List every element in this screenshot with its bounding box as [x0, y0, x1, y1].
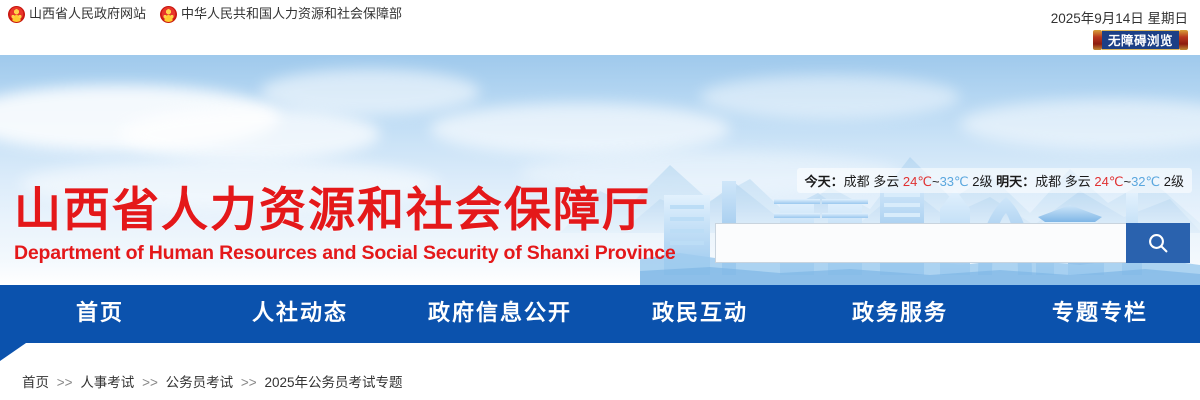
cloud-icon	[120, 107, 380, 161]
weather-today-high: 33℃	[940, 174, 969, 189]
top-bar-links: 山西省人民政府网站 中华人民共和国人力资源和社会保障部	[8, 5, 402, 23]
top-link-mohrss[interactable]: 中华人民共和国人力资源和社会保障部	[160, 5, 402, 23]
weather-tomorrow-wind: 2级	[1164, 174, 1184, 189]
weather-tomorrow-condition: 多云	[1065, 174, 1091, 189]
weather-tomorrow-high: 32℃	[1131, 174, 1160, 189]
scroll-right-icon	[1179, 30, 1188, 50]
page-title-cn: 山西省人力资源和社会保障厅	[14, 183, 654, 239]
top-link-label: 山西省人民政府网站	[29, 5, 146, 23]
nav-item-services[interactable]: 政务服务	[800, 285, 1000, 343]
site-search	[715, 223, 1190, 263]
accessibility-badge-label: 无障碍浏览	[1102, 30, 1179, 50]
breadcrumb-bar: 首页 >> 人事考试 >> 公务员考试 >> 2025年公务员考试专题	[0, 343, 1200, 400]
breadcrumb: 首页 >> 人事考试 >> 公务员考试 >> 2025年公务员考试专题	[22, 371, 402, 391]
nav-item-interaction[interactable]: 政民互动	[600, 285, 800, 343]
site-banner: 山西省人力资源和社会保障厅 Department of Human Resour…	[0, 55, 1200, 285]
nav-item-news[interactable]: 人社动态	[200, 285, 400, 343]
search-input[interactable]	[715, 223, 1126, 263]
weather-today-city: 成都	[844, 174, 870, 189]
breadcrumb-item-home[interactable]: 首页	[22, 375, 49, 390]
weather-tomorrow-city: 成都	[1035, 174, 1061, 189]
corner-wedge-decoration	[0, 343, 26, 361]
national-emblem-icon	[8, 6, 25, 23]
page-title-en: Department of Human Resources and Social…	[14, 240, 654, 266]
weather-tomorrow-range-sep: ~	[1123, 174, 1131, 189]
national-emblem-icon	[160, 6, 177, 23]
nav-item-home[interactable]: 首页	[0, 285, 200, 343]
site-brand: 山西省人力资源和社会保障厅 Department of Human Resour…	[14, 183, 654, 266]
search-icon	[1146, 231, 1170, 255]
main-navigation: 首页 人社动态 政府信息公开 政民互动 政务服务 专题专栏	[0, 285, 1200, 343]
accessibility-badge[interactable]: 无障碍浏览	[1093, 30, 1188, 50]
top-link-label: 中华人民共和国人力资源和社会保障部	[181, 5, 402, 23]
breadcrumb-item-civil-servant-exam[interactable]: 公务员考试	[166, 375, 234, 390]
weather-tomorrow-low: 24℃	[1094, 174, 1123, 189]
current-date: 2025年9月14日 星期日	[1051, 7, 1188, 27]
search-button[interactable]	[1126, 223, 1190, 263]
nav-item-topics[interactable]: 专题专栏	[1000, 285, 1200, 343]
weather-today-wind: 2级	[972, 174, 992, 189]
breadcrumb-item-personnel-exam[interactable]: 人事考试	[80, 375, 134, 390]
weather-today-label: 今天：	[805, 174, 844, 189]
breadcrumb-separator: >>	[241, 375, 257, 390]
top-bar: 山西省人民政府网站 中华人民共和国人力资源和社会保障部 2025年9月14日 星…	[0, 0, 1200, 55]
nav-item-disclosure[interactable]: 政府信息公开	[400, 285, 600, 343]
weather-widget: 今天：成都 多云 24℃~33℃ 2级 明天：成都 多云 24℃~32℃ 2级	[797, 168, 1192, 193]
scroll-left-icon	[1093, 30, 1102, 50]
breadcrumb-separator: >>	[57, 375, 73, 390]
weather-today-condition: 多云	[873, 174, 899, 189]
weather-today-range-sep: ~	[932, 174, 940, 189]
cloud-icon	[260, 69, 480, 115]
breadcrumb-item-current: 2025年公务员考试专题	[264, 375, 402, 390]
weather-tomorrow-label: 明天：	[996, 174, 1035, 189]
breadcrumb-separator: >>	[142, 375, 158, 390]
weather-today-low: 24℃	[903, 174, 932, 189]
top-link-shanxi-gov[interactable]: 山西省人民政府网站	[8, 5, 146, 23]
